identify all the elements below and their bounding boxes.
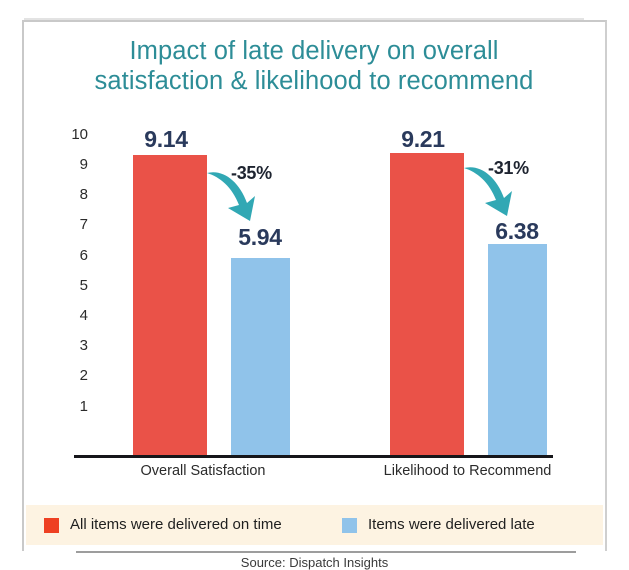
chart-title-line-1: Impact of late delivery on overall [38,36,590,66]
chart-card: Impact of late delivery on overall satis… [0,0,629,564]
chart-title: Impact of late delivery on overall satis… [38,36,590,96]
legend-label-on-time: All items were delivered on time [70,517,282,533]
chart-title-line-2: satisfaction & likelihood to recommend [38,66,590,96]
chart-frame-border [22,20,607,551]
footer-source-text: Source: Dispatch Insights [0,556,629,570]
legend-swatch-red-icon [44,518,59,533]
chart-legend: All items were delivered on time Items w… [26,505,603,545]
footer-divider [76,551,576,553]
legend-label-late: Items were delivered late [368,517,535,533]
legend-swatch-blue-icon [342,518,357,533]
legend-item-on-time[interactable]: All items were delivered on time [44,517,282,533]
legend-item-late[interactable]: Items were delivered late [342,517,535,533]
